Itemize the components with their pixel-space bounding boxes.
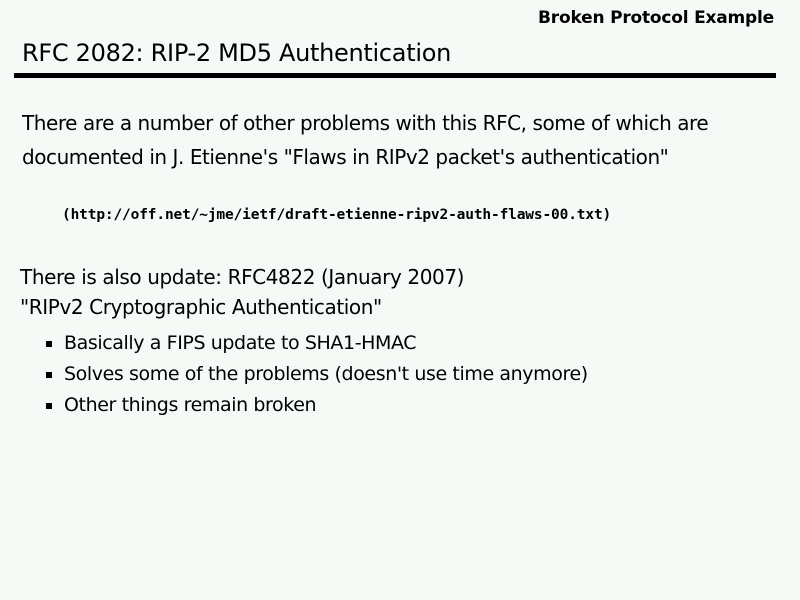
bullet-list: Basically a FIPS update to SHA1-HMAC Sol…: [46, 328, 766, 421]
slide-eyebrow: Broken Protocol Example: [538, 8, 774, 28]
reference-url: (http://off.net/~jme/ietf/draft-etienne-…: [62, 207, 611, 223]
list-item-label: Basically a FIPS update to SHA1-HMAC: [64, 328, 416, 359]
list-item-label: Solves some of the problems (doesn't use…: [64, 359, 588, 390]
body-paragraph: There are a number of other problems wit…: [22, 106, 778, 174]
update-paragraph: There is also update: RFC4822 (January 2…: [20, 262, 760, 322]
list-item: Other things remain broken: [46, 390, 766, 421]
list-item: Solves some of the problems (doesn't use…: [46, 359, 766, 390]
list-item-label: Other things remain broken: [64, 390, 316, 421]
body-line-2: documented in J. Etienne's "Flaws in RIP…: [22, 140, 778, 174]
update-line-2: "RIPv2 Cryptographic Authentication": [20, 292, 760, 322]
square-bullet-icon: [46, 372, 52, 378]
slide-canvas: Broken Protocol Example RFC 2082: RIP-2 …: [0, 0, 800, 600]
update-line-1: There is also update: RFC4822 (January 2…: [20, 262, 760, 292]
list-item: Basically a FIPS update to SHA1-HMAC: [46, 328, 766, 359]
page-title: RFC 2082: RIP-2 MD5 Authentication: [22, 39, 451, 67]
square-bullet-icon: [46, 403, 52, 409]
body-line-1: There are a number of other problems wit…: [22, 106, 778, 140]
square-bullet-icon: [46, 341, 52, 347]
title-divider: [14, 73, 776, 78]
